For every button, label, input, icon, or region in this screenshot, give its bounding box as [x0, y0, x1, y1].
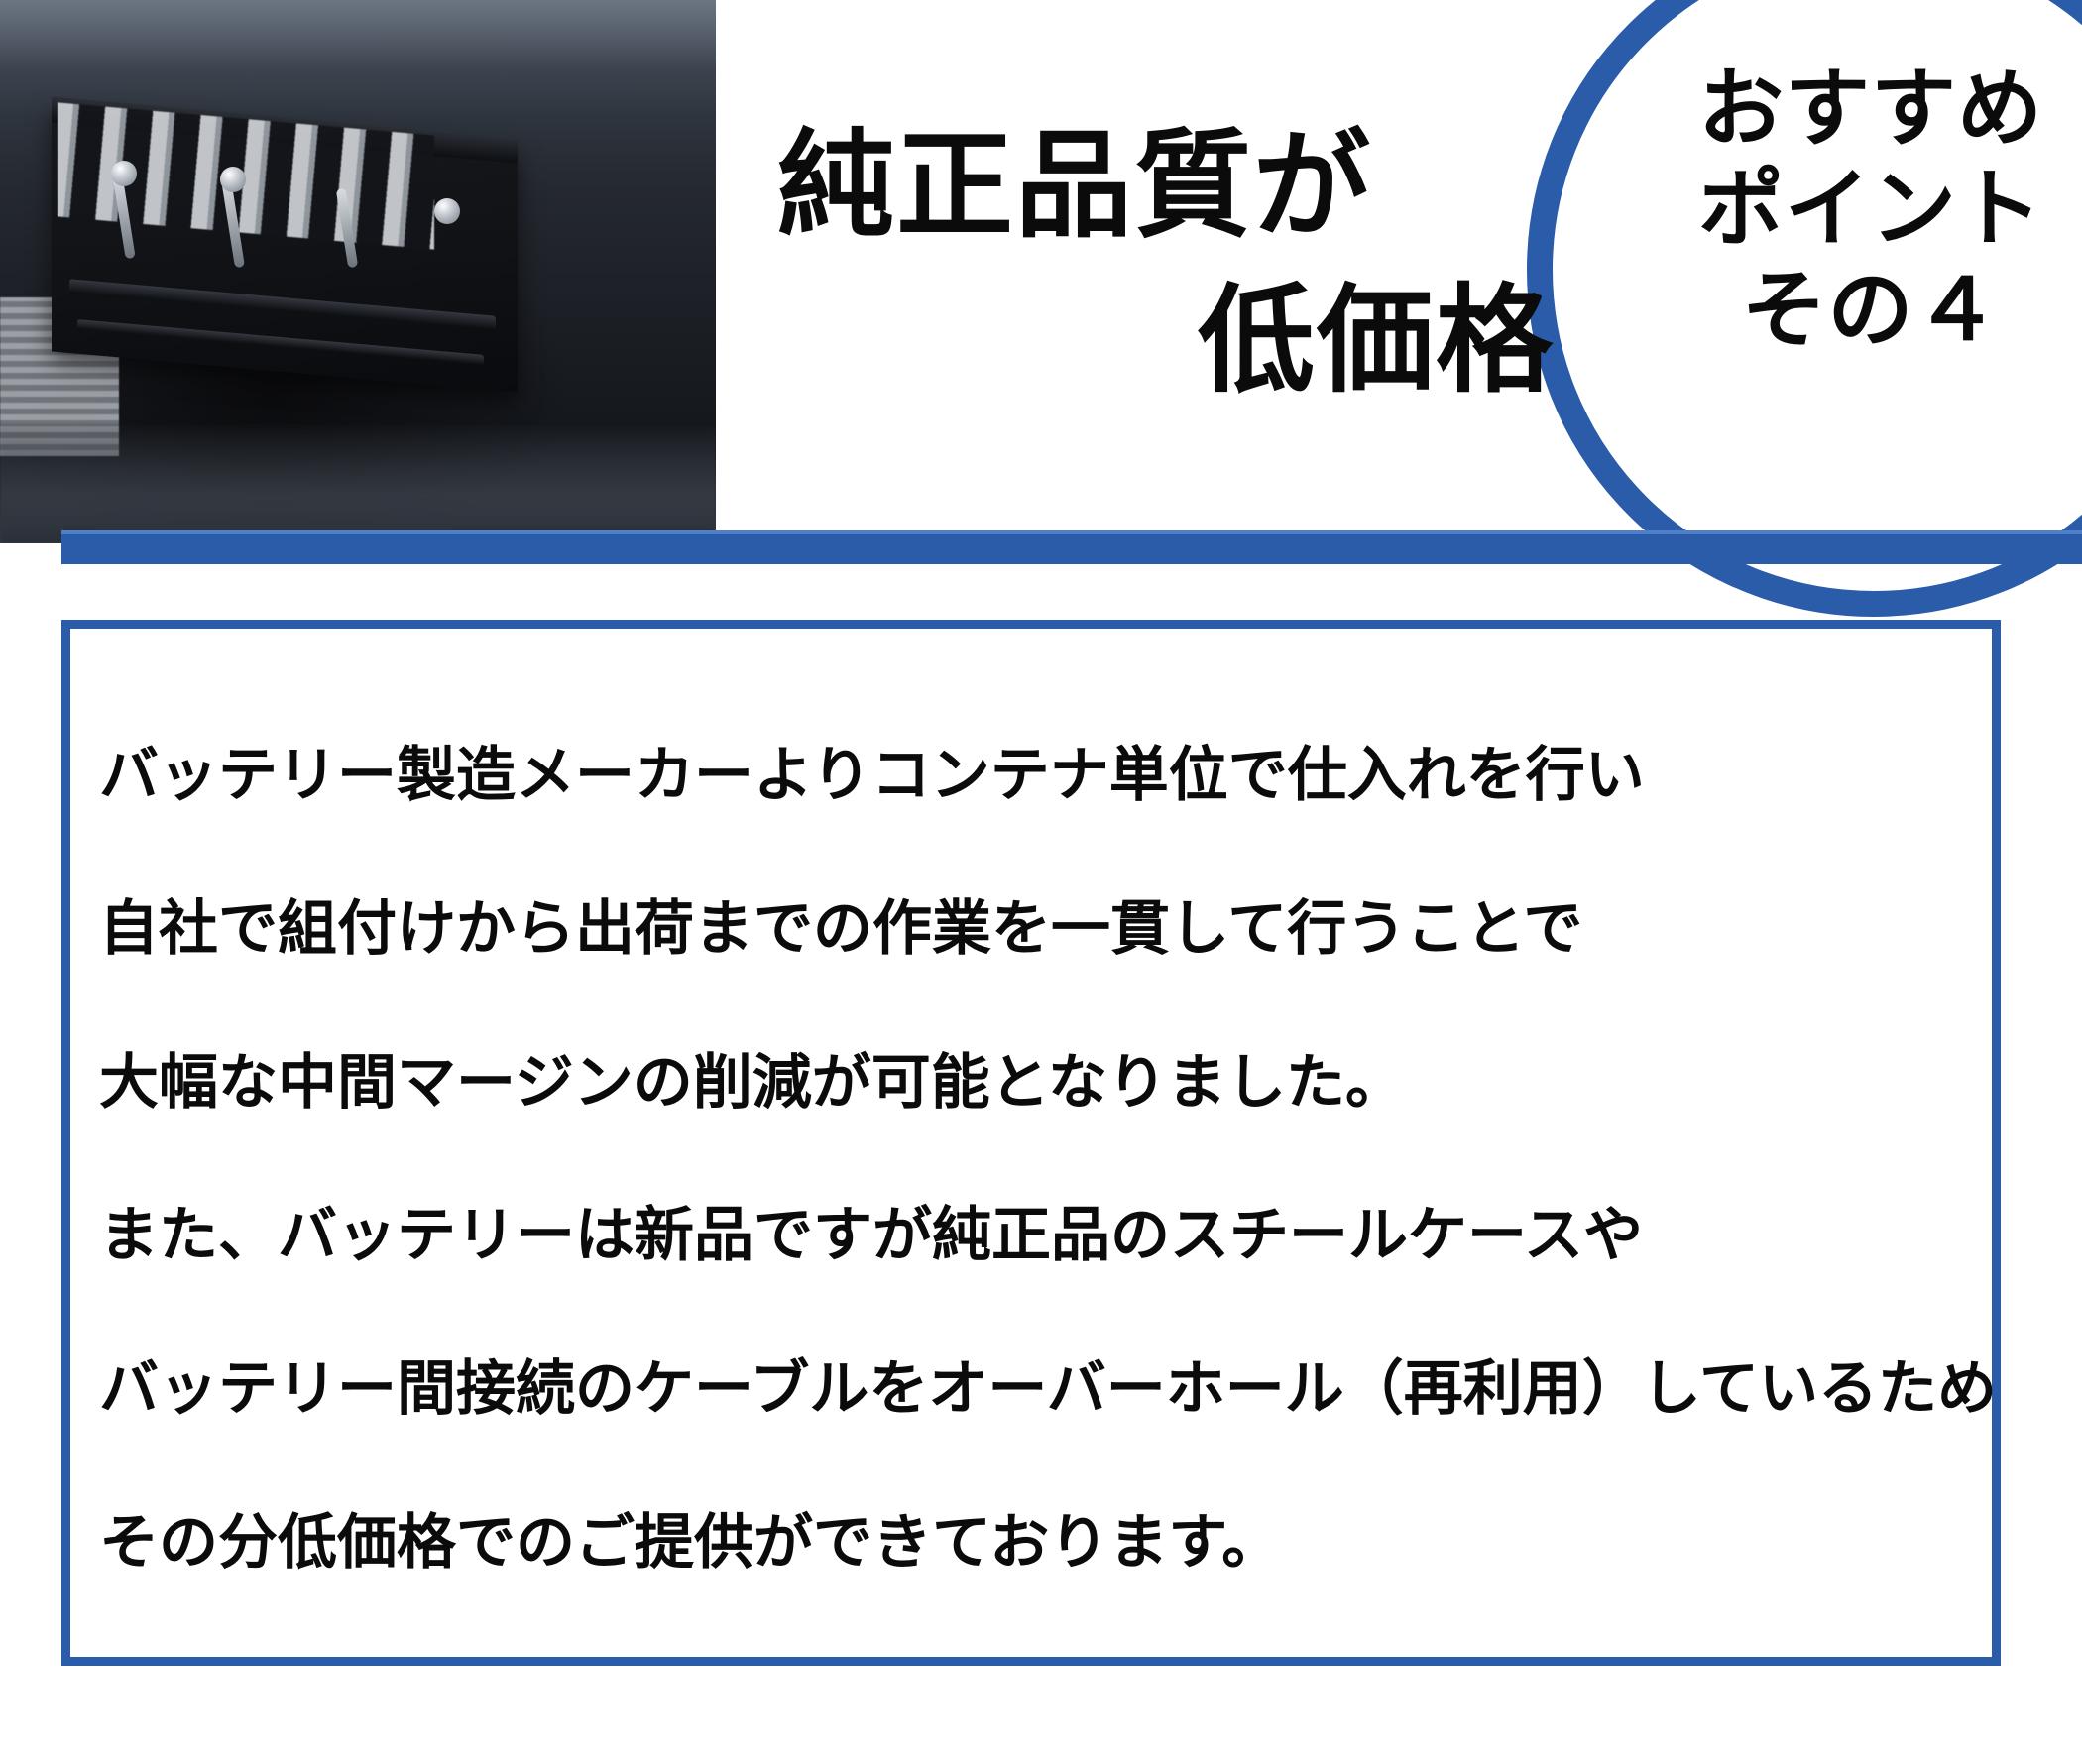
badge-line-2: ポイント	[1638, 160, 2082, 260]
photo-floor	[0, 424, 716, 543]
body-line: 大幅な中間マージンの削減が可能となりました。	[99, 1006, 1983, 1160]
badge-line-3: その４	[1638, 261, 2082, 361]
body-line: また、バッテリーは新品ですが純正品のスチールケースや	[99, 1159, 1983, 1313]
body-line: バッテリー間接続のケーブルをオーバーホール（再利用）しているため	[99, 1313, 1983, 1467]
body-line: その分低価格でのご提供ができております。	[99, 1467, 1983, 1620]
badge-line-1: おすすめ	[1638, 59, 2082, 160]
body-line: バッテリー製造メーカーよりコンテナ単位で仕入れを行い	[99, 699, 1983, 853]
photo-rod-knob	[434, 198, 460, 224]
headline-line-1: 純正品質が	[753, 109, 1576, 264]
photo-rod-knob	[220, 167, 246, 192]
photo-rod-knob	[111, 161, 137, 186]
blue-divider-bar	[61, 530, 2082, 564]
photo-top-machinery-secondary	[0, 22, 716, 48]
headline-line-2: 低価格	[753, 264, 1576, 418]
factory-photo	[0, 0, 716, 543]
description-text: バッテリー製造メーカーよりコンテナ単位で仕入れを行い 自社で組付けから出荷までの…	[99, 699, 1983, 1620]
blue-divider-highlight	[61, 530, 2082, 534]
recommend-point-label: おすすめ ポイント その４	[1638, 59, 2082, 361]
body-line: 自社で組付けから出荷までの作業を一貫して行うことで	[99, 853, 1983, 1006]
promo-poster: おすすめ ポイント その４ 純正品質が 低価格 バッテリー製造メーカーよりコンテ…	[0, 0, 2082, 1764]
page-title: 純正品質が 低価格	[753, 109, 1576, 418]
